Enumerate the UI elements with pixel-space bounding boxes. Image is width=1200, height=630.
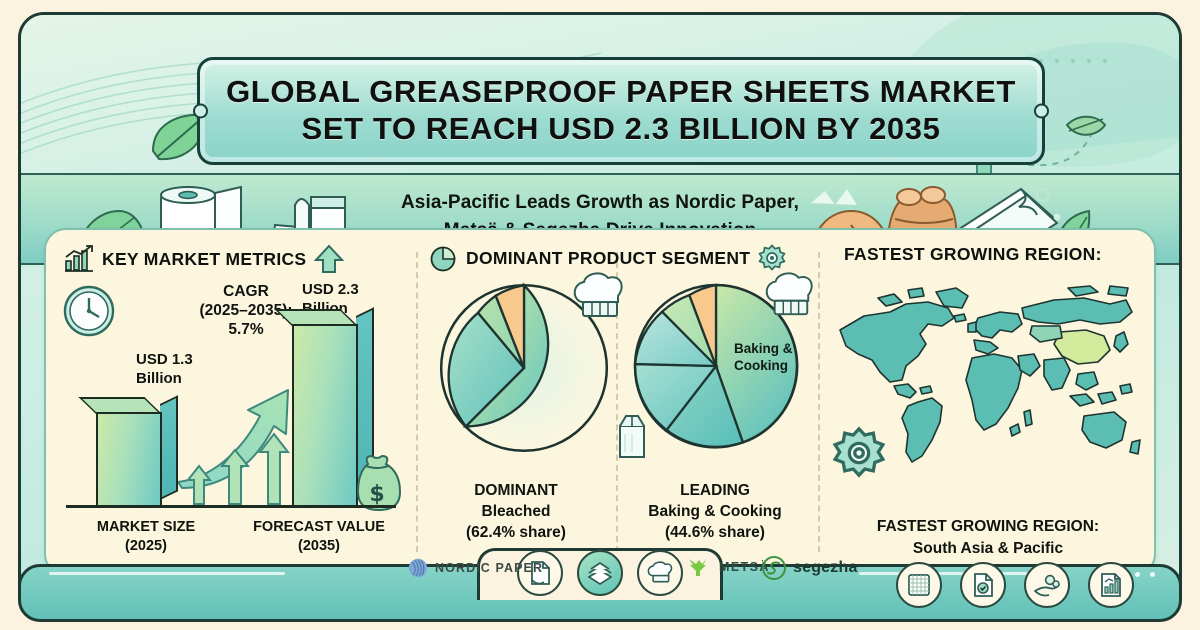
- title-plaque: GLOBAL GREASEPROOF PAPER SHEETS MARKET S…: [197, 57, 1045, 165]
- mini-up-arrow-icon: [258, 432, 290, 506]
- category-label-forecast-value: FORECAST VALUE (2035): [226, 518, 412, 556]
- pie2-caption-line1: LEADING: [612, 480, 818, 501]
- mini-up-arrow-icon: [220, 448, 250, 506]
- stacked-sheets-icon[interactable]: [577, 550, 623, 596]
- panel-fastest-growing-region: FASTEST GROWING REGION:: [818, 230, 1156, 574]
- bar-forecast-value-2035: [292, 324, 358, 508]
- nordic-paper-name: NORDIC PAPER: [435, 561, 543, 575]
- pie1-caption-line3: (62.4% share): [412, 522, 620, 543]
- certified-document-glyph: [971, 572, 995, 598]
- mini-up-arrow-icon: [186, 464, 212, 506]
- segezha-logo: [762, 556, 786, 580]
- region-heading-row: FASTEST GROWING REGION:: [818, 230, 1156, 265]
- clock-icon: [62, 284, 116, 338]
- certified-document-icon[interactable]: [960, 562, 1006, 608]
- gear-icon: [832, 426, 886, 480]
- hand-gears-glyph: [1033, 573, 1061, 597]
- stacked-sheets-glyph: [586, 561, 614, 585]
- title-line-2: SET TO REACH USD 2.3 BILLION BY 2035: [302, 110, 941, 148]
- region-heading: FASTEST GROWING REGION:: [844, 244, 1102, 265]
- brand-nordic-paper: NORDIC PAPER: [408, 558, 543, 578]
- infographic-canvas: GLOBAL GREASEPROOF PAPER SHEETS MARKET S…: [0, 0, 1200, 630]
- gear-icon: [758, 244, 786, 272]
- chart-baseline-axis: [66, 505, 396, 508]
- flour-carton-icon: [612, 412, 652, 460]
- chef-hat-icon[interactable]: [637, 550, 683, 596]
- money-bag-icon: $: [350, 454, 404, 512]
- grid-texture-glyph: [906, 572, 932, 598]
- panel-key-market-metrics: KEY MARKET METRICS USD 1.3 Billion: [46, 230, 412, 574]
- report-chart-icon[interactable]: [1088, 562, 1134, 608]
- pie2-caption: LEADING Baking & Cooking (44.6% share): [612, 480, 818, 543]
- metrics-chart: USD 1.3 Billion CAGR (2025–2035): 5.7% U…: [46, 270, 412, 570]
- pie1-caption: DOMINANT Bleached (62.4% share): [412, 480, 620, 543]
- region-caption-line2: South Asia & Pacific: [818, 538, 1156, 560]
- region-caption-line1: FASTEST GROWING REGION:: [818, 516, 1156, 538]
- region-caption: FASTEST GROWING REGION: South Asia & Pac…: [818, 516, 1156, 560]
- pie2-caption-line2: Baking & Cooking: [612, 501, 818, 522]
- chef-hat-icon: [572, 272, 626, 320]
- pie2-caption-line3: (44.6% share): [612, 522, 818, 543]
- bar-side-face: [160, 395, 178, 500]
- nordic-paper-logo: [408, 558, 428, 578]
- grid-texture-icon[interactable]: [896, 562, 942, 608]
- chef-hat-glyph: [647, 561, 673, 585]
- metsa-logo: [686, 556, 712, 578]
- pie-chart-icon: [430, 244, 458, 272]
- category-label-market-size: MARKET SIZE (2025): [56, 518, 236, 556]
- segment-heading-row: DOMINANT PRODUCT SEGMENT: [412, 230, 818, 272]
- chef-hat-icon: [764, 272, 816, 318]
- bar-market-size-2025: [96, 412, 162, 508]
- segezha-name: segezha: [793, 559, 858, 577]
- footer-rule-left: [49, 572, 285, 575]
- report-chart-glyph: [1099, 572, 1123, 598]
- pie1-caption-line2: Bleached: [412, 501, 620, 522]
- segment-heading: DOMINANT PRODUCT SEGMENT: [466, 248, 750, 269]
- metrics-heading-row: KEY MARKET METRICS: [46, 230, 412, 274]
- footer-icon-group-right[interactable]: [896, 562, 1134, 608]
- main-content-card: KEY MARKET METRICS USD 1.3 Billion: [44, 228, 1156, 576]
- metrics-heading: KEY MARKET METRICS: [102, 249, 306, 270]
- pie2-inline-label: Baking & Cooking: [734, 340, 812, 374]
- brand-segezha: segezha: [762, 556, 858, 580]
- svg-text:$: $: [369, 482, 384, 507]
- bar-front-face: [292, 324, 358, 508]
- bar-chart-growth-icon: [64, 245, 94, 273]
- title-line-1: GLOBAL GREASEPROOF PAPER SHEETS MARKET: [226, 74, 1016, 110]
- brand-metsa: METSÄ: [686, 556, 770, 578]
- pie1-caption-line1: DOMINANT: [412, 480, 620, 501]
- bar-front-face: [96, 412, 162, 508]
- hand-gears-icon[interactable]: [1024, 562, 1070, 608]
- panel-dominant-product-segment: DOMINANT PRODUCT SEGMENT: [412, 230, 818, 574]
